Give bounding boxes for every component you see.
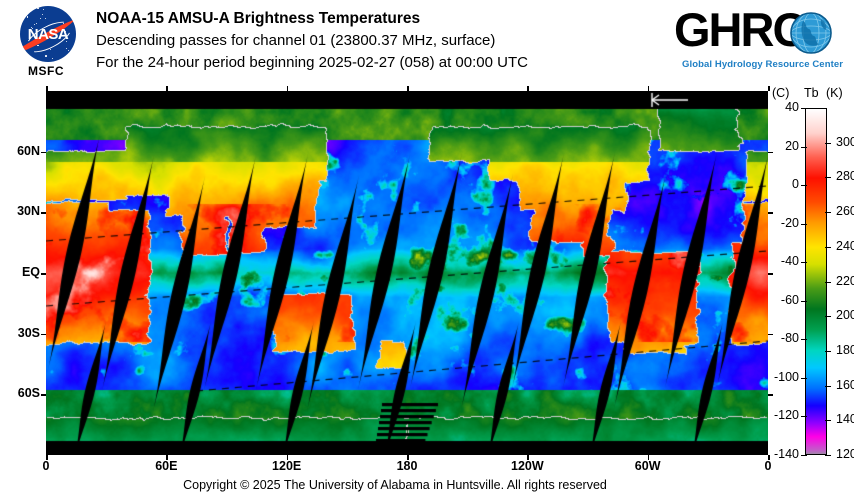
map-raster: [46, 91, 768, 455]
lon-tickmark: [768, 86, 770, 91]
lon-label-120E: 120E: [257, 459, 317, 473]
colorbar-tick-k-200: 200: [836, 308, 854, 322]
lat-tickmark: [41, 212, 46, 214]
colorbar-tick-c-minus20: -20: [753, 216, 799, 230]
colorbar-tickmark-left: [801, 108, 807, 109]
brightness-temperature-map[interactable]: [46, 91, 768, 455]
colorbar-tickmark-left: [801, 262, 807, 263]
colorbar-gradient: [806, 109, 826, 454]
lat-tickmark: [768, 394, 773, 396]
colorbar-tick-c-minus40: -40: [753, 254, 799, 268]
colorbar-tickmark-left: [801, 185, 807, 186]
lon-tickmark: [527, 86, 529, 91]
page-title: NOAA-15 AMSU-A Brightness Temperatures D…: [96, 8, 528, 74]
colorbar-tick-k-120: 120: [836, 447, 854, 461]
copyright-notice: Copyright © 2025 The University of Alaba…: [0, 478, 790, 492]
colorbar-tickmark-right: [825, 143, 831, 144]
colorbar: [805, 108, 827, 455]
lat-label-EQ: EQ: [0, 265, 40, 279]
colorbar-tick-k-280: 280: [836, 169, 854, 183]
lat-label-60N: 60N: [0, 144, 40, 158]
lon-label-0: 0: [16, 459, 76, 473]
colorbar-tickmark-right: [825, 351, 831, 352]
colorbar-tickmark-right: [825, 212, 831, 213]
msfc-label: MSFC: [8, 64, 84, 78]
ghrc-subtitle: Global Hydrology Resource Center: [682, 59, 843, 70]
colorbar-tickmark-right: [825, 420, 831, 421]
lon-tickmark: [46, 455, 48, 460]
lon-tickmark: [287, 455, 289, 460]
lon-label-60W: 60W: [618, 459, 678, 473]
colorbar-tickmark-left: [801, 378, 807, 379]
colorbar-tick-c-minus140: -140: [753, 447, 799, 461]
colorbar-unit-celsius: (C): [772, 86, 789, 100]
colorbar-tick-c-minus60: -60: [753, 293, 799, 307]
colorbar-tick-c-20: 20: [753, 139, 799, 153]
lon-tickmark: [166, 455, 168, 460]
ghrc-logo: GHRC Global Hydrology Resource Center: [674, 4, 836, 78]
title-line-2: Descending passes for channel 01 (23800.…: [96, 30, 528, 52]
colorbar-tickmark-left: [801, 147, 807, 148]
lat-tickmark: [41, 152, 46, 154]
title-line-1: NOAA-15 AMSU-A Brightness Temperatures: [96, 8, 528, 30]
lon-tickmark: [648, 455, 650, 460]
nasa-wordmark: NASA: [20, 26, 76, 43]
colorbar-title-tb: Tb: [804, 86, 819, 100]
header: NASA MSFC NOAA-15 AMSU-A Brightness Temp…: [0, 0, 854, 88]
lon-label-180: 180: [377, 459, 437, 473]
ghrc-wordmark: GHRC: [674, 6, 804, 53]
lon-label-60E: 60E: [136, 459, 196, 473]
lon-tickmark: [527, 455, 529, 460]
lat-tickmark: [41, 334, 46, 336]
colorbar-tick-c-minus80: -80: [753, 331, 799, 345]
lat-label-30S: 30S: [0, 326, 40, 340]
globe-icon: [790, 12, 832, 54]
colorbar-tickmark-left: [801, 416, 807, 417]
colorbar-tickmark-right: [825, 455, 831, 456]
lat-label-60S: 60S: [0, 386, 40, 400]
lon-tickmark: [166, 86, 168, 91]
lat-tickmark: [41, 394, 46, 396]
colorbar-tick-c-minus120: -120: [753, 408, 799, 422]
colorbar-tickmark-right: [825, 316, 831, 317]
colorbar-tickmark-right: [825, 177, 831, 178]
colorbar-tick-k-140: 140: [836, 412, 854, 426]
nasa-logo: NASA MSFC: [8, 4, 84, 84]
lon-label-0: 0: [738, 459, 798, 473]
lat-label-30N: 30N: [0, 204, 40, 218]
colorbar-unit-kelvin: (K): [826, 86, 843, 100]
lat-tickmark: [768, 212, 773, 214]
colorbar-tick-k-220: 220: [836, 274, 854, 288]
colorbar-tickmark-right: [825, 247, 831, 248]
lon-tickmark: [407, 455, 409, 460]
lon-tickmark: [407, 86, 409, 91]
colorbar-tick-k-260: 260: [836, 204, 854, 218]
colorbar-tickmark-left: [801, 224, 807, 225]
lat-tickmark: [768, 273, 773, 275]
colorbar-tickmark-left: [801, 339, 807, 340]
colorbar-tick-k-160: 160: [836, 378, 854, 392]
colorbar-tick-k-180: 180: [836, 343, 854, 357]
lon-label-120W: 120W: [497, 459, 557, 473]
colorbar-tick-c-0: 0: [753, 177, 799, 191]
lon-tickmark: [287, 86, 289, 91]
colorbar-tick-k-240: 240: [836, 239, 854, 253]
colorbar-tickmark-right: [825, 282, 831, 283]
colorbar-tickmark-left: [801, 455, 807, 456]
colorbar-tickmark-right: [825, 386, 831, 387]
colorbar-tick-c-40: 40: [753, 100, 799, 114]
colorbar-tickmark-left: [801, 301, 807, 302]
colorbar-tick-c-minus100: -100: [753, 370, 799, 384]
title-line-3: For the 24-hour period beginning 2025-02…: [96, 52, 528, 74]
lat-tickmark: [41, 273, 46, 275]
nasa-meatball-icon: NASA: [20, 6, 76, 62]
lon-tickmark: [46, 86, 48, 91]
lon-tickmark: [648, 86, 650, 91]
colorbar-tick-k-300: 300: [836, 135, 854, 149]
